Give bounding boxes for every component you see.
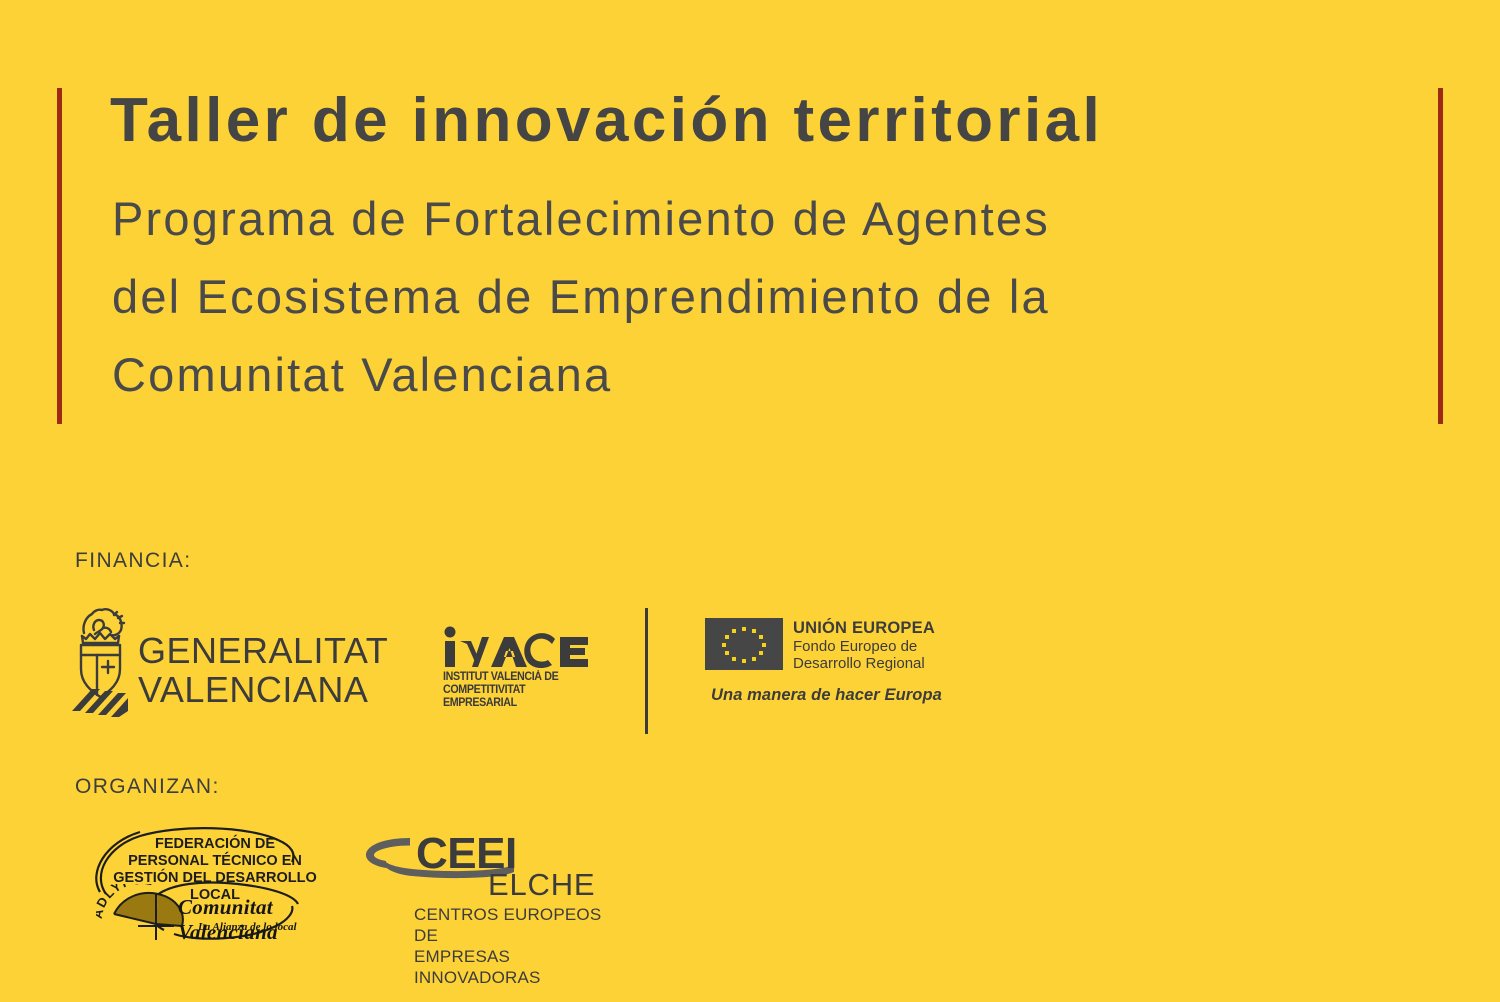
ivace-subtitle: INSTITUT VALENCIÀ DE COMPETITIVITAT EMPR… xyxy=(443,671,592,710)
generalitat-line-1: GENERALITAT xyxy=(138,631,388,670)
ceei-subtitle-line-1: CENTROS EUROPEOS DE xyxy=(414,904,622,946)
ivace-wordmark-icon xyxy=(442,624,590,668)
adlypse-arc-text-icon: ADLYPSE xyxy=(96,884,186,930)
ivace-logo: INSTITUT VALENCIÀ DE COMPETITIVITAT EMPR… xyxy=(442,624,602,714)
eu-slogan: Una manera de hacer Europa xyxy=(711,686,942,705)
federacion-tagline: La Alianza de lo local xyxy=(198,921,297,933)
generalitat-wordmark: GENERALITAT VALENCIANA xyxy=(138,631,388,709)
ceei-subtitle: CENTROS EUROPEOS DE EMPRESAS INNOVADORAS xyxy=(414,904,622,988)
subtitle-line-2: del Ecosistema de Emprendimiento de la xyxy=(112,258,1432,336)
title-block: Taller de innovación territorial Program… xyxy=(0,88,1500,424)
federacion-adlypse-logo: FEDERACIÓN DE PERSONAL TÉCNICO EN GESTIÓ… xyxy=(78,822,368,947)
federacion-title-line-1: FEDERACIÓN DE xyxy=(100,836,330,853)
page-title: Taller de innovación territorial xyxy=(110,90,1103,152)
subtitle-line-3: Comunitat Valenciana xyxy=(112,336,1432,414)
ceei-city: ELCHE xyxy=(488,867,595,903)
ivace-subtitle-line-2: COMPETITIVITAT EMPRESARIAL xyxy=(443,684,592,710)
ceei-subtitle-line-2: EMPRESAS INNOVADORAS xyxy=(414,946,622,988)
subtitle-line-1: Programa de Fortalecimiento de Agentes xyxy=(112,180,1432,258)
ivace-subtitle-line-1: INSTITUT VALENCIÀ DE xyxy=(443,671,592,684)
eu-title: UNIÓN EUROPEA xyxy=(793,619,935,638)
organizan-caption: ORGANIZAN: xyxy=(75,775,220,799)
generalitat-valenciana-logo: GENERALITAT VALENCIANA xyxy=(70,603,390,723)
eu-text-block: UNIÓN EUROPEA Fondo Europeo de Desarroll… xyxy=(793,619,935,672)
organizer-logo-row: FEDERACIÓN DE PERSONAL TÉCNICO EN GESTIÓ… xyxy=(70,822,970,957)
federacion-brand: Comunitat Valenciana xyxy=(178,895,368,945)
eu-subtitle-line-2: Desarrollo Regional xyxy=(793,655,935,672)
logo-divider xyxy=(645,608,648,734)
page-subtitle: Programa de Fortalecimiento de Agentes d… xyxy=(112,180,1432,414)
union-europea-logo: UNIÓN EUROPEA Fondo Europeo de Desarroll… xyxy=(705,618,945,728)
ceei-elche-logo: CEEI ELCHE CENTROS EUROPEOS DE EMPRESAS … xyxy=(362,832,622,947)
eu-flag-icon xyxy=(705,618,783,670)
left-accent-rule xyxy=(57,88,62,424)
poster-canvas: Taller de innovación territorial Program… xyxy=(0,0,1500,1002)
generalitat-line-2: VALENCIANA xyxy=(138,670,388,709)
financia-caption: FINANCIA: xyxy=(75,549,191,573)
eu-subtitle: Fondo Europeo de Desarrollo Regional xyxy=(793,638,935,672)
right-accent-rule xyxy=(1438,88,1443,424)
svg-text:ADLYPSE: ADLYPSE xyxy=(96,884,155,920)
federacion-title-line-2: PERSONAL TÉCNICO EN xyxy=(100,853,330,870)
funder-logo-row: GENERALITAT VALENCIANA xyxy=(70,598,970,743)
generalitat-shield-icon xyxy=(70,603,130,723)
eu-subtitle-line-1: Fondo Europeo de xyxy=(793,638,935,655)
